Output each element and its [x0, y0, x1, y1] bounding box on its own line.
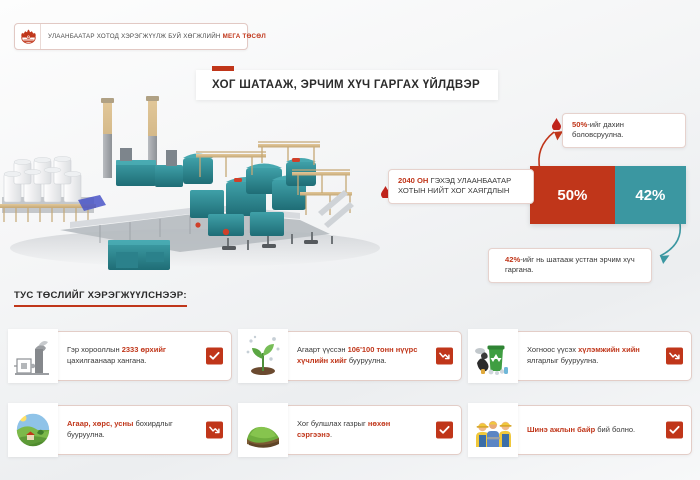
benefit-card-text: Хог булшлах газрыг нөхөн сэргээнэ. — [297, 419, 427, 440]
benefit-card-text: Агаарт үүссэн 106'100 тонн нүүрс хүчлийн… — [297, 345, 427, 366]
waste-split-bar-chart: 50% 42% — [530, 166, 686, 224]
benefit-text-pre: Хогноос үүсэх — [527, 345, 578, 354]
sprout-icon — [238, 329, 288, 383]
callout-recycle-value: 50% — [572, 120, 587, 129]
benefit-card: Гэр хорооллын 2333 өрхийг цахилгаанаар х… — [8, 322, 232, 390]
workers-icon — [468, 403, 518, 457]
benefit-card-body: Агаар, хөрс, усны бохирдлыг бууруулна. — [54, 405, 232, 455]
landscape-icon — [8, 403, 58, 457]
benefit-card: Хогноос үүсэх хүлэмжийн хийн ялгарлыг бу… — [468, 322, 692, 390]
benefit-text-post: . — [330, 430, 332, 439]
benefit-card-body: Гэр хорооллын 2333 өрхийг цахилгаанаар х… — [54, 331, 232, 381]
check-icon — [206, 348, 223, 365]
check-icon — [666, 422, 683, 439]
benefit-card-text: Хогноос үүсэх хүлэмжийн хийн ялгарлыг бу… — [527, 345, 657, 366]
header-title-highlight: МЕГА ТӨСӨЛ — [223, 33, 266, 40]
recycle-bin-icon — [468, 329, 518, 383]
benefit-card-grid: Гэр хорооллын 2333 өрхийг цахилгаанаар х… — [8, 322, 692, 464]
benefit-card: Шинэ ажлын байр бий болно. — [468, 396, 692, 464]
benefit-card-body: Агаарт үүссэн 106'100 тонн нүүрс хүчлийн… — [284, 331, 462, 381]
benefit-text-post: бууруулна. — [347, 356, 387, 365]
trend-down-icon — [436, 348, 453, 365]
header-bar: УЛААНБААТАР ХОТОД ХЭРЭГЖҮҮЛЖ БУЙ ХӨГЖЛИЙ… — [14, 23, 248, 50]
header-title: УЛААНБААТАР ХОТОД ХЭРЭГЖҮҮЛЖ БУЙ ХӨГЖЛИЙ… — [41, 33, 266, 40]
callout-recycle: 50%-ийг дахин боловсруулна. — [562, 113, 686, 148]
benefit-text-bold: Агаар, хөрс, усны — [67, 419, 133, 428]
benefit-card: Агаар, хөрс, усны бохирдлыг бууруулна. — [8, 396, 232, 464]
benefit-text-bold: 2333 өрхийг — [122, 345, 166, 354]
section-heading: ТУС ТӨСЛИЙГ ХЭРЭГЖҮҮЛСНЭЭР: — [14, 290, 187, 307]
ulaanbaatar-city-emblem-icon — [16, 24, 41, 49]
benefit-card-text: Шинэ ажлын байр бий болно. — [527, 425, 635, 436]
benefit-card-text: Гэр хорооллын 2333 өрхийг цахилгаанаар х… — [67, 345, 197, 366]
benefit-text-pre: Агаарт үүссэн — [297, 345, 348, 354]
benefit-card-body: Шинэ ажлын байр бий болно. — [514, 405, 692, 455]
benefit-text-pre: Гэр хорооллын — [67, 345, 122, 354]
callout-2040-year: 2040 ОН — [398, 176, 428, 185]
bar-segment-recycle: 50% — [530, 166, 615, 224]
benefit-card: Хог булшлах газрыг нөхөн сэргээнэ. — [238, 396, 462, 464]
trend-down-icon — [206, 422, 223, 439]
header-title-plain: УЛААНБААТАР ХОТОД ХЭРЭГЖҮҮЛЖ БУЙ ХӨГЖЛИЙ… — [48, 33, 223, 40]
callout-2040-intro: 2040 ОН ГЭХЭД УЛААНБААТАР ХОТЫН НИЙТ ХОГ… — [388, 169, 534, 204]
power-plant-icon — [8, 329, 58, 383]
green-hill-icon — [238, 403, 288, 457]
callout-incinerate: 42%-ийг нь шатааж устган эрчим хүч гарга… — [488, 248, 652, 283]
benefit-text-post: ялгарлыг бууруулна. — [527, 356, 598, 365]
main-title-card: ХОГ ШАТААЖ, ЭРЧИМ ХҮЧ ГАРГАХ ҮЙЛДВЭР — [196, 70, 498, 100]
drip-marker-icon — [552, 118, 561, 130]
bar-segment-incinerate: 42% — [615, 166, 686, 224]
benefit-text-bold: хүлэмжийн хийн — [578, 345, 640, 354]
benefit-card-text: Агаар, хөрс, усны бохирдлыг бууруулна. — [67, 419, 197, 440]
check-icon — [436, 422, 453, 439]
title-accent-tick — [212, 66, 234, 71]
callout-incinerate-text: -ийг нь шатааж устган эрчим хүч гаргана. — [505, 255, 635, 274]
benefit-card-body: Хог булшлах газрыг нөхөн сэргээнэ. — [284, 405, 462, 455]
benefit-card-body: Хогноос үүсэх хүлэмжийн хийн ялгарлыг бу… — [514, 331, 692, 381]
benefit-card: Агаарт үүссэн 106'100 тонн нүүрс хүчлийн… — [238, 322, 462, 390]
benefit-text-post: цахилгаанаар хангана. — [67, 356, 147, 365]
benefit-text-pre: Хог булшлах газрыг — [297, 419, 368, 428]
callout-incinerate-value: 42% — [505, 255, 520, 264]
benefit-text-post: бий болно. — [595, 425, 635, 434]
page-title: ХОГ ШАТААЖ, ЭРЧИМ ХҮЧ ГАРГАХ ҮЙЛДВЭР — [212, 79, 480, 91]
trend-down-icon — [666, 348, 683, 365]
benefit-text-bold: Шинэ ажлын байр — [527, 425, 595, 434]
